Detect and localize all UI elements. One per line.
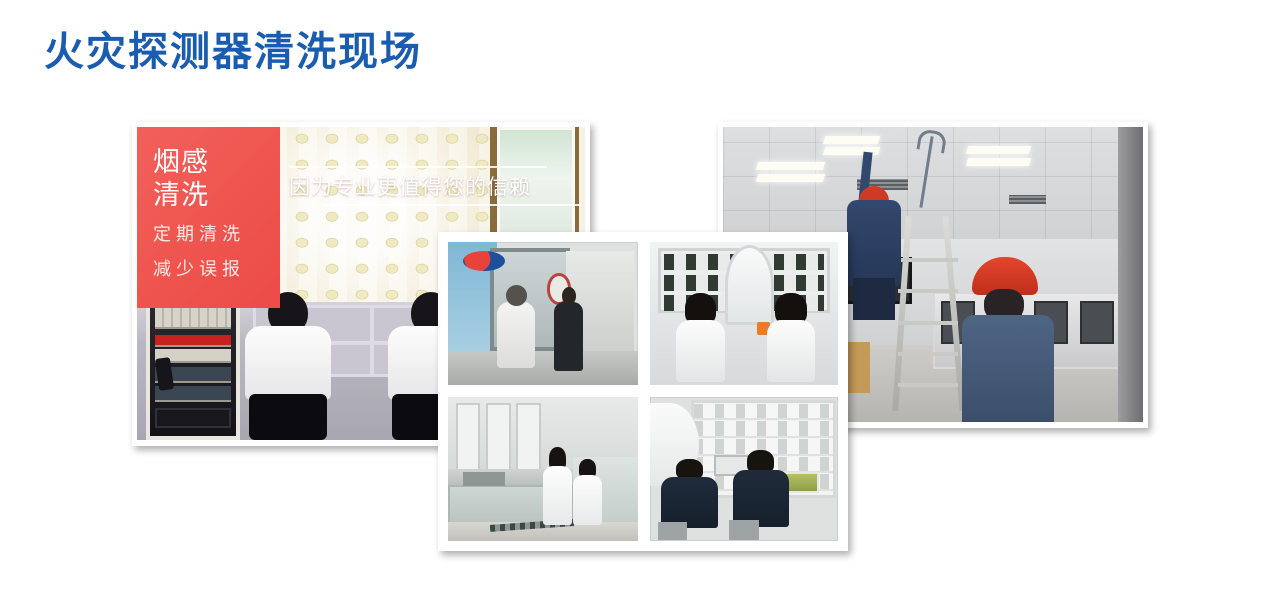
seated-operator-left bbox=[661, 459, 717, 540]
technician-uniform bbox=[847, 200, 901, 286]
ladder-rung-3 bbox=[898, 321, 958, 325]
slogan-rule-bottom bbox=[323, 204, 581, 206]
seated-worker-left bbox=[245, 292, 331, 440]
operator-uniform bbox=[733, 470, 789, 527]
corridor-floor bbox=[448, 351, 638, 385]
person-dark-shirt bbox=[554, 302, 583, 371]
ribbon-subline-2: 减少误报 bbox=[153, 257, 280, 283]
technician-lab-coat bbox=[573, 475, 602, 525]
person-head bbox=[506, 285, 527, 306]
ladder-rung-2 bbox=[898, 289, 958, 293]
operator-chair bbox=[658, 522, 687, 540]
slogan-rule-top bbox=[289, 166, 547, 168]
technician-uniform bbox=[962, 315, 1054, 422]
ladder-rung-1 bbox=[898, 258, 958, 262]
collage-panel-microscope-bench bbox=[650, 242, 838, 385]
collage-card bbox=[438, 232, 848, 551]
technician-left bbox=[676, 293, 725, 382]
person-head bbox=[562, 287, 576, 305]
operator-uniform bbox=[661, 477, 717, 529]
collage-panel-corridor-inspection bbox=[448, 242, 638, 385]
ribbon-subline-1: 定期清洗 bbox=[153, 222, 280, 248]
cabinet-door-2 bbox=[486, 403, 511, 472]
technician-lab-coat bbox=[676, 320, 725, 382]
ceiling-light-5 bbox=[965, 146, 1031, 154]
technician-on-ladder bbox=[845, 168, 903, 320]
technician-on-ground bbox=[962, 257, 1054, 422]
person-white-shirt bbox=[497, 302, 535, 368]
operator-chair bbox=[729, 520, 758, 540]
ceiling-light-2 bbox=[755, 174, 825, 182]
ladder-rung-4 bbox=[898, 352, 958, 356]
worker-lab-coat bbox=[245, 326, 331, 400]
slogan-text: 因为专业更值得您的信赖 bbox=[289, 175, 531, 199]
ribbon-headline-line2: 清洗 bbox=[153, 180, 280, 213]
slogan-overlay: 因为专业更值得您的信赖 bbox=[289, 163, 581, 209]
cabinet-door-3 bbox=[516, 403, 541, 472]
seated-operator-right bbox=[733, 450, 789, 539]
ladder-rung-5 bbox=[898, 383, 958, 387]
lab-technician-back bbox=[573, 459, 602, 525]
wash-sink bbox=[463, 472, 505, 486]
rack-module-base bbox=[155, 408, 230, 428]
ceiling-vent-2 bbox=[1009, 195, 1047, 203]
console-screen-4 bbox=[1080, 301, 1114, 343]
wall-pillar bbox=[1118, 127, 1143, 422]
company-logo-icon bbox=[463, 251, 505, 271]
ceiling-light-3 bbox=[822, 136, 879, 144]
control-rack bbox=[146, 294, 240, 440]
ceiling-light-6 bbox=[965, 158, 1031, 166]
lab-technician-front bbox=[543, 447, 572, 525]
cabinet-door-1 bbox=[456, 403, 481, 472]
red-ribbon-banner: 烟感 清洗 定期清洗 减少误报 bbox=[137, 127, 280, 308]
detector-shelf-row-2 bbox=[694, 421, 833, 436]
rack-module-alarm bbox=[155, 335, 230, 347]
technician-right bbox=[767, 293, 816, 382]
technician-lab-coat bbox=[767, 320, 816, 382]
ceiling-light-1 bbox=[755, 162, 825, 170]
worker-chair bbox=[249, 394, 327, 440]
collage-panel-detector-shelf-testing bbox=[650, 397, 838, 541]
page-title: 火灾探测器清洗现场 bbox=[44, 32, 422, 72]
collage-panel-lab-sink-cleaning bbox=[448, 397, 638, 541]
technician-legs bbox=[853, 278, 895, 320]
ribbon-headline-line1: 烟感 bbox=[153, 147, 280, 180]
technician-lab-coat bbox=[543, 466, 572, 525]
detector-shelf-row-1 bbox=[694, 404, 833, 419]
